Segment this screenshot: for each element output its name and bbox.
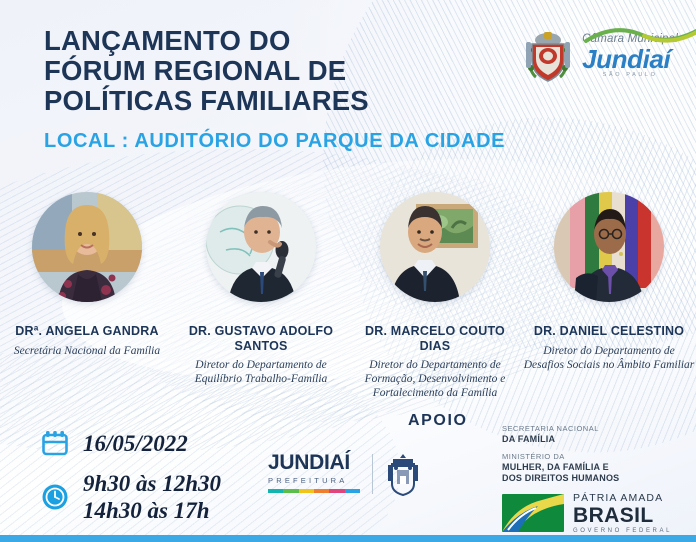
brazil-flag-icon: [502, 494, 564, 532]
speaker-name: DR. MARCELO COUTO DIAS: [348, 324, 522, 353]
camara-logo-text: Câmara Municipal Jundiaí SÃO PAULO: [582, 34, 678, 79]
speaker-role: Secretária Nacional da Família: [14, 344, 160, 358]
ministerio-group: MINISTÉRIO DA MULHER, DA FAMÍLIA E DOS D…: [502, 452, 680, 484]
ministerio-bold-1: MULHER, DA FAMÍLIA E: [502, 462, 680, 473]
secretaria-small: SECRETARIA NACIONAL: [502, 424, 680, 434]
speaker-photo-marcelo-couto-dias: [380, 192, 490, 302]
jundiai-coat-of-arms-icon: [385, 452, 421, 496]
speaker-card: DR. GUSTAVO ADOLFO SANTOS Diretor do Dep…: [174, 192, 348, 400]
speaker-photo-angela-gandra: [32, 192, 142, 302]
speaker-photo-gustavo-adolfo-santos: [206, 192, 316, 302]
title-line-1: LANÇAMENTO DO: [44, 26, 505, 56]
brasil-top-text: PÁTRIA AMADA: [573, 493, 672, 504]
camara-big-text: Jundiaí: [582, 46, 678, 72]
event-location: LOCAL : AUDITÓRIO DO PARQUE DA CIDADE: [44, 130, 505, 153]
title-line-2: FÓRUM REGIONAL DE: [44, 56, 505, 86]
prefeitura-color-bar: [268, 489, 360, 493]
prefeitura-wordmark: JUNDIAÍ PREFEITURA: [268, 452, 360, 493]
calendar-icon: [40, 428, 70, 458]
event-date: 16/05/2022: [83, 430, 188, 457]
logo-divider: [372, 454, 373, 494]
brasil-bottom-text: GOVERNO FEDERAL: [573, 528, 672, 534]
speaker-card: DRª. ANGELA GANDRA Secretária Nacional d…: [0, 192, 174, 400]
date-row: 16/05/2022: [40, 428, 221, 458]
speaker-name: DRª. ANGELA GANDRA: [15, 324, 158, 339]
title-block: LANÇAMENTO DO FÓRUM REGIONAL DE POLÍTICA…: [44, 26, 505, 153]
clock-icon: [40, 482, 70, 512]
camara-municipal-logo: Câmara Municipal Jundiaí SÃO PAULO: [522, 28, 678, 84]
government-block: SECRETARIA NACIONAL DA FAMÍLIA MINISTÉRI…: [502, 424, 680, 534]
brasil-text: PÁTRIA AMADA BRASIL GOVERNO FEDERAL: [573, 493, 672, 534]
ministerio-bold-2: DOS DIREITOS HUMANOS: [502, 473, 680, 484]
speaker-role: Diretor do Departamento de Desafios Soci…: [523, 344, 695, 372]
speaker-name: DR. DANIEL CELESTINO: [534, 324, 684, 339]
secretaria-bold: DA FAMÍLIA: [502, 434, 680, 445]
bottom-accent-bar: [0, 535, 696, 542]
prefeitura-name: JUNDIAÍ: [268, 452, 360, 473]
prefeitura-logo: JUNDIAÍ PREFEITURA: [268, 452, 421, 496]
speaker-role: Diretor do Departamento de Formação, Des…: [349, 358, 521, 400]
time-afternoon: 14h30 às 17h: [83, 497, 221, 524]
title-line-3: POLÍTICAS FAMILIARES: [44, 86, 505, 116]
coat-of-arms-icon: [522, 28, 574, 84]
speakers-row: DRª. ANGELA GANDRA Secretária Nacional d…: [0, 192, 696, 400]
speaker-name: DR. GUSTAVO ADOLFO SANTOS: [174, 324, 348, 353]
schedule-block: 16/05/2022 9h30 às 12h30 14h30 às 17h: [40, 428, 221, 536]
camara-tiny-text: SÃO PAULO: [582, 73, 678, 79]
speaker-role: Diretor do Departamento de Equilíbrio Tr…: [175, 358, 347, 386]
brasil-logo: PÁTRIA AMADA BRASIL GOVERNO FEDERAL: [502, 493, 680, 534]
time-texts: 9h30 às 12h30 14h30 às 17h: [83, 470, 221, 524]
brasil-main-text: BRASIL: [573, 505, 672, 526]
event-poster: LANÇAMENTO DO FÓRUM REGIONAL DE POLÍTICA…: [0, 0, 696, 542]
secretaria-group: SECRETARIA NACIONAL DA FAMÍLIA: [502, 424, 680, 445]
time-row: 9h30 às 12h30 14h30 às 17h: [40, 470, 221, 524]
time-morning: 9h30 às 12h30: [83, 470, 221, 497]
logo-arc-icon: [584, 26, 696, 44]
prefeitura-subtitle: PREFEITURA: [268, 476, 360, 485]
speaker-card: DR. DANIEL CELESTINO Diretor do Departam…: [522, 192, 696, 400]
ministerio-small: MINISTÉRIO DA: [502, 452, 680, 462]
support-heading: APOIO: [408, 412, 468, 430]
speaker-photo-daniel-celestino: [554, 192, 664, 302]
speaker-card: DR. MARCELO COUTO DIAS Diretor do Depart…: [348, 192, 522, 400]
